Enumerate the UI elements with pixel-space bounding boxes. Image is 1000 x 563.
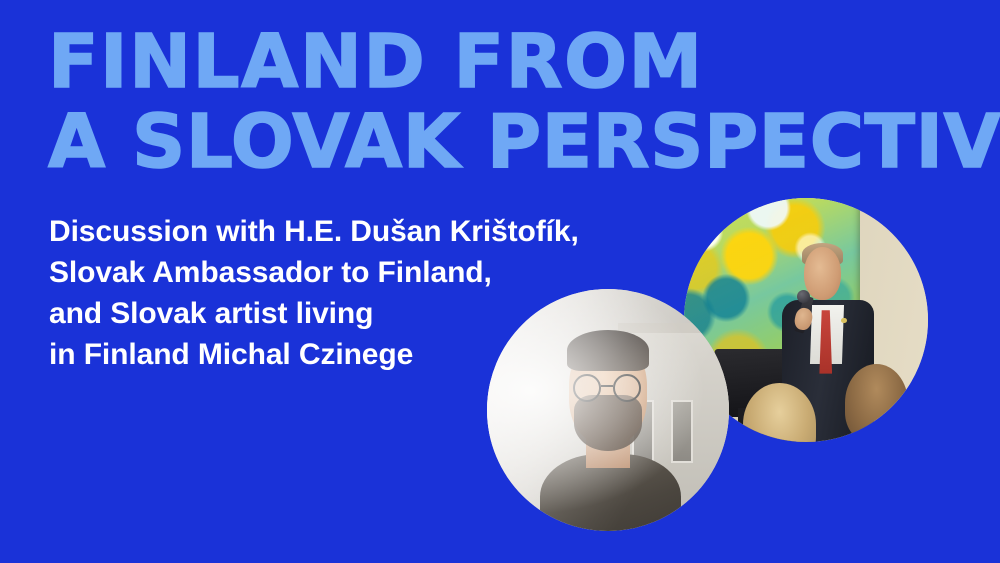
artist-beard xyxy=(574,395,642,451)
glasses-lens-left xyxy=(573,374,601,402)
title-line-1: Finland From xyxy=(48,22,968,102)
artist-hair xyxy=(567,330,649,371)
subtitle-line-2: Slovak Ambassador to Finland, xyxy=(49,252,579,293)
speaker-head xyxy=(804,247,842,301)
glasses-lens-right xyxy=(613,374,641,402)
building-window-right xyxy=(671,400,693,463)
banner-subtitle: Discussion with H.E. Dušan Krištofík, Sl… xyxy=(49,211,579,375)
title-line-2: A Slovak Perspective xyxy=(48,102,968,182)
audience-head-brown xyxy=(845,364,908,442)
subtitle-line-1: Discussion with H.E. Dušan Krištofík, xyxy=(49,211,579,252)
event-banner: Finland From A Slovak Perspective Discus… xyxy=(0,0,1000,563)
banner-title: Finland From A Slovak Perspective xyxy=(48,22,968,182)
subtitle-line-4: in Finland Michal Czinege xyxy=(49,334,579,375)
subtitle-line-3: and Slovak artist living xyxy=(49,293,579,334)
glasses-bridge xyxy=(601,385,613,388)
